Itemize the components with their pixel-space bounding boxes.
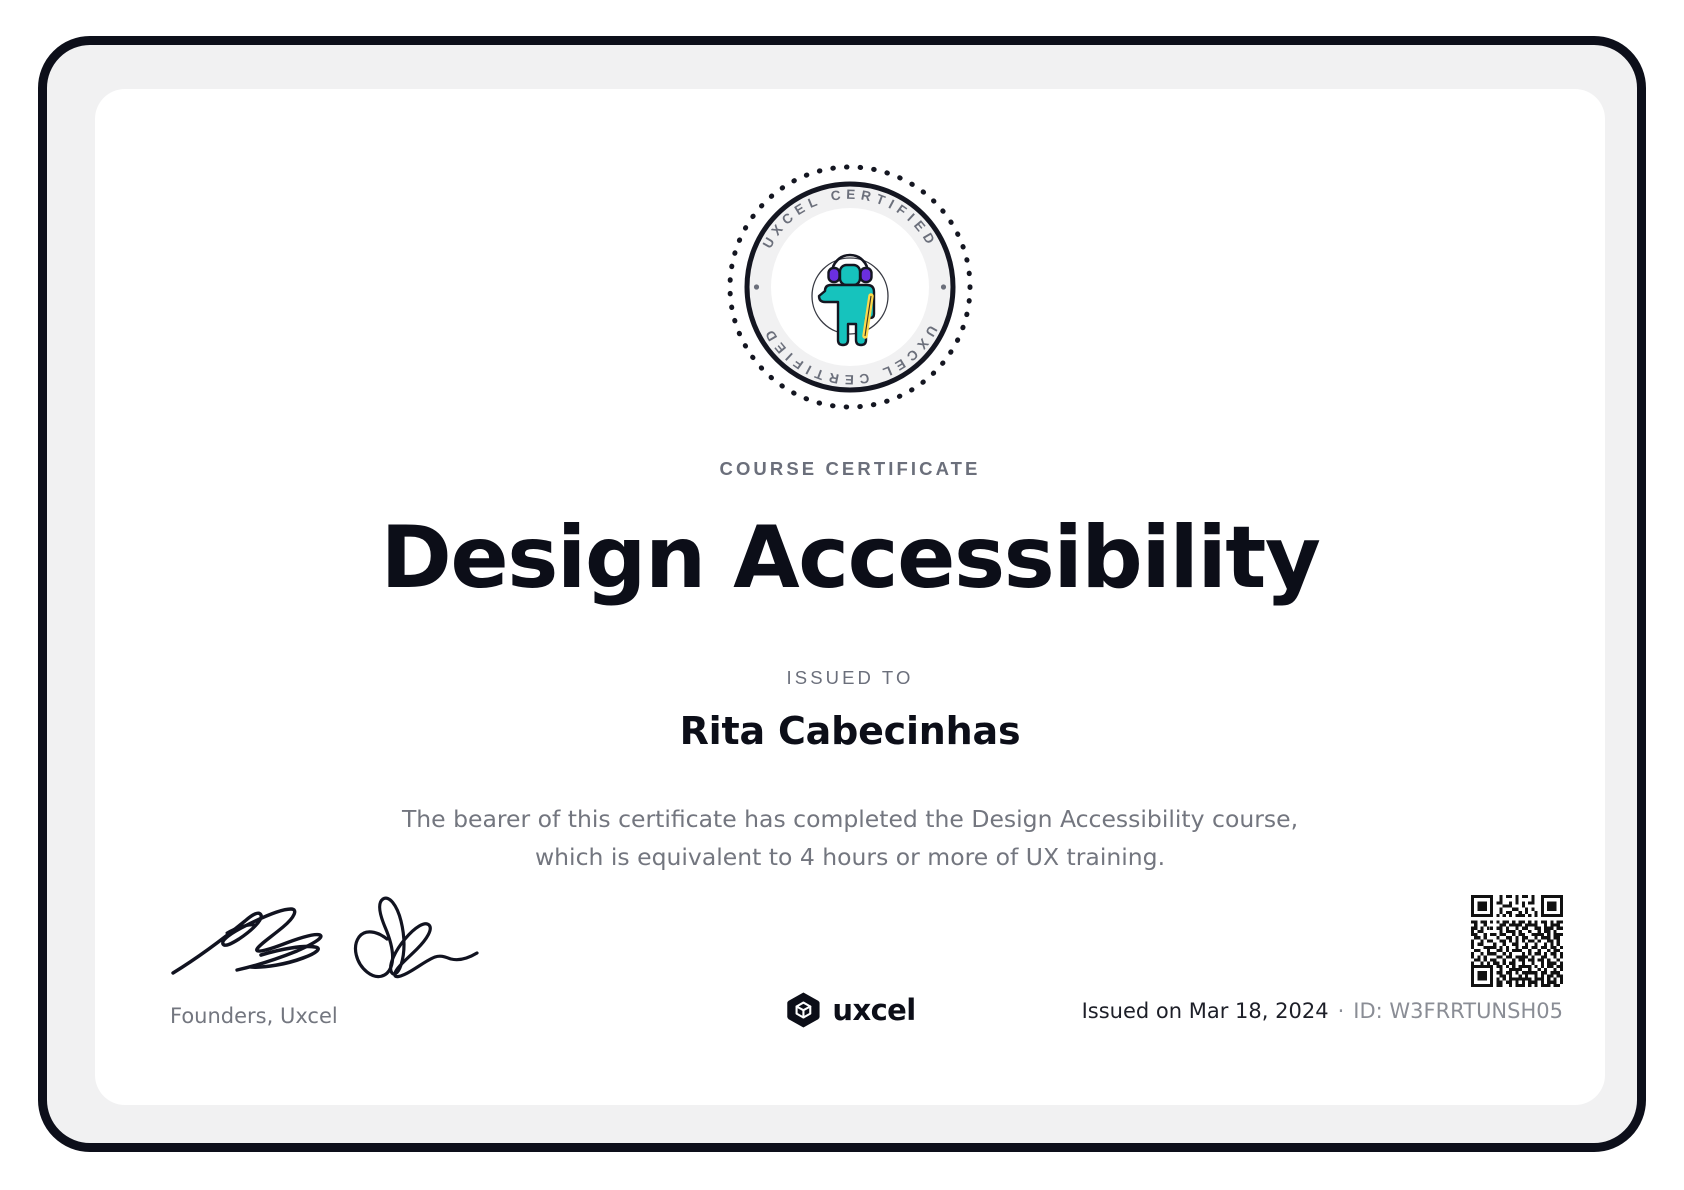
seal-bullet-right [941,284,946,289]
description-line-2: which is equivalent to 4 hours or more o… [95,838,1605,876]
founder-signature-two [356,898,477,977]
issue-date: Issued on Mar 18, 2024 [1082,999,1329,1023]
certificate-id: ID: W3FRRTUNSH05 [1353,999,1563,1023]
uxcel-brand-logo: uxcel [784,991,915,1029]
description-line-1: The bearer of this certificate has compl… [95,800,1605,838]
founder-signature-one [173,909,321,973]
uxcel-wordmark: uxcel [832,993,915,1027]
qr-code-icon[interactable] [1471,895,1563,987]
signature-graphic [165,887,505,997]
certificate-page: UXCEL CERTIFIED UXCEL CERTIFIED [0,0,1684,1190]
issue-separator: · [1338,999,1345,1023]
recipient-name: Rita Cabecinhas [95,709,1605,753]
founder-signatures [165,887,505,997]
certificate-outer-frame: UXCEL CERTIFIED UXCEL CERTIFIED [38,36,1646,1152]
certificate-description: The bearer of this certificate has compl… [95,800,1605,876]
qr-code[interactable] [1471,895,1563,987]
founders-label: Founders, Uxcel [170,1004,338,1028]
course-title: Design Accessibility [95,513,1605,603]
seal-bullet-left [754,284,759,289]
certificate-card: UXCEL CERTIFIED UXCEL CERTIFIED [95,89,1605,1105]
eyebrow-label: COURSE CERTIFICATE [95,458,1605,480]
issued-to-label: ISSUED TO [95,667,1605,689]
issue-metadata: Issued on Mar 18, 2024 · ID: W3FRRTUNSH0… [1082,999,1563,1023]
uxcel-certified-seal: UXCEL CERTIFIED UXCEL CERTIFIED [724,161,976,413]
seal-graphic: UXCEL CERTIFIED UXCEL CERTIFIED [724,161,976,413]
uxcel-hexagon-cube-logo-icon [784,991,822,1029]
